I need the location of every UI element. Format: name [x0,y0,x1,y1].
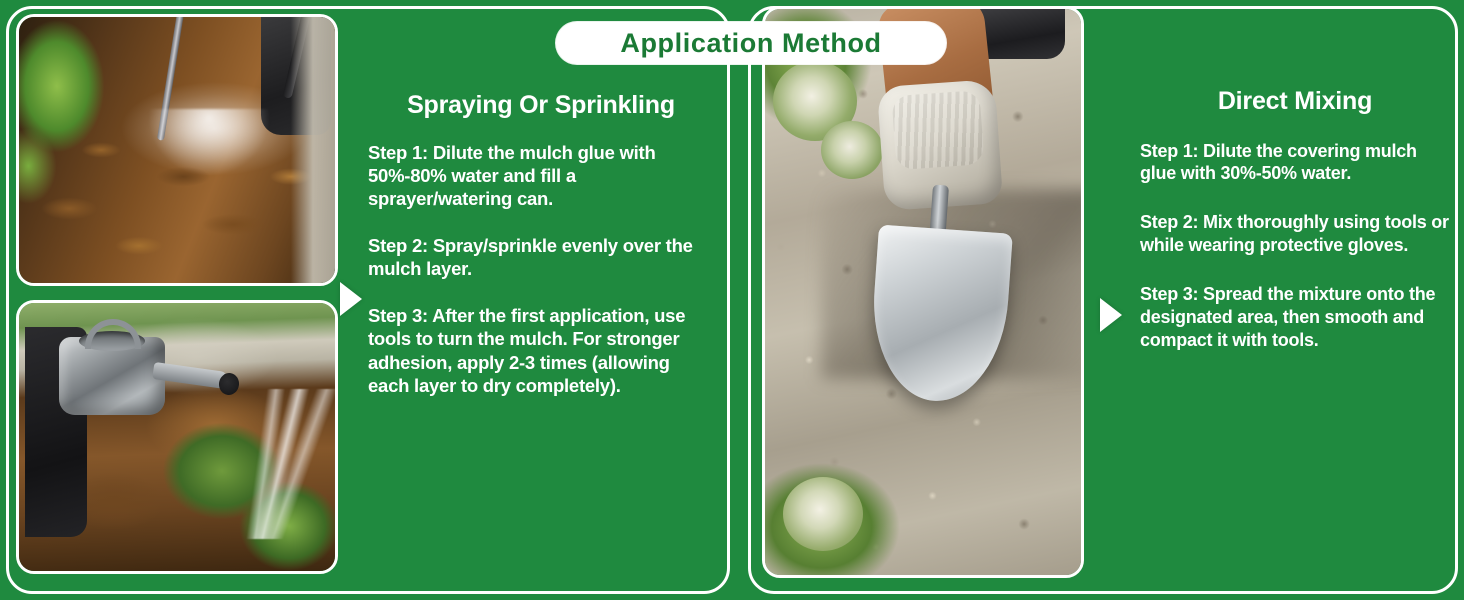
watering-can-scene [19,303,335,571]
application-method-infographic: Application Method [0,0,1464,600]
succulent-plant-bottom [783,477,863,551]
spray-wand [157,14,184,141]
gravel-bed-scene [765,9,1081,575]
arrow-right-icon-left-column [340,282,362,316]
succulent-plant-middle [821,121,883,179]
step-item: Step 2: Spray/sprinkle evenly over the m… [368,234,714,281]
arrow-right-icon-right-column [1100,298,1122,332]
step-item: Step 1: Dilute the covering mulch glue w… [1140,140,1450,186]
step-item: Step 1: Dilute the mulch glue with 50%-8… [368,141,714,211]
photo-watering-can-over-mulch-path [16,300,338,574]
heading-direct-mixing: Direct Mixing [1140,88,1450,116]
step-item: Step 3: Spread the mixture onto the desi… [1140,283,1450,352]
garden-hose [282,14,310,99]
step-item: Step 3: After the first application, use… [368,304,714,398]
page-title: Application Method [556,22,946,64]
text-column-direct-mixing: Direct Mixing Step 1: Dilute the coverin… [1140,88,1450,378]
water-spray-fan [129,109,289,259]
watering-can-handle [85,319,141,349]
heading-spraying: Spraying Or Sprinkling [368,92,714,120]
photo-gloved-hand-with-trowel-on-gravel [762,6,1084,578]
text-column-spraying: Spraying Or Sprinkling Step 1: Dilute th… [368,92,714,398]
photo-mulch-bed-being-sprayed [16,14,338,286]
person-boot [261,17,331,135]
page-title-text: Application Method [620,28,881,59]
step-item: Step 2: Mix thoroughly using tools or wh… [1140,211,1450,257]
water-stream [215,389,338,539]
mulch-bed-scene [19,17,335,283]
